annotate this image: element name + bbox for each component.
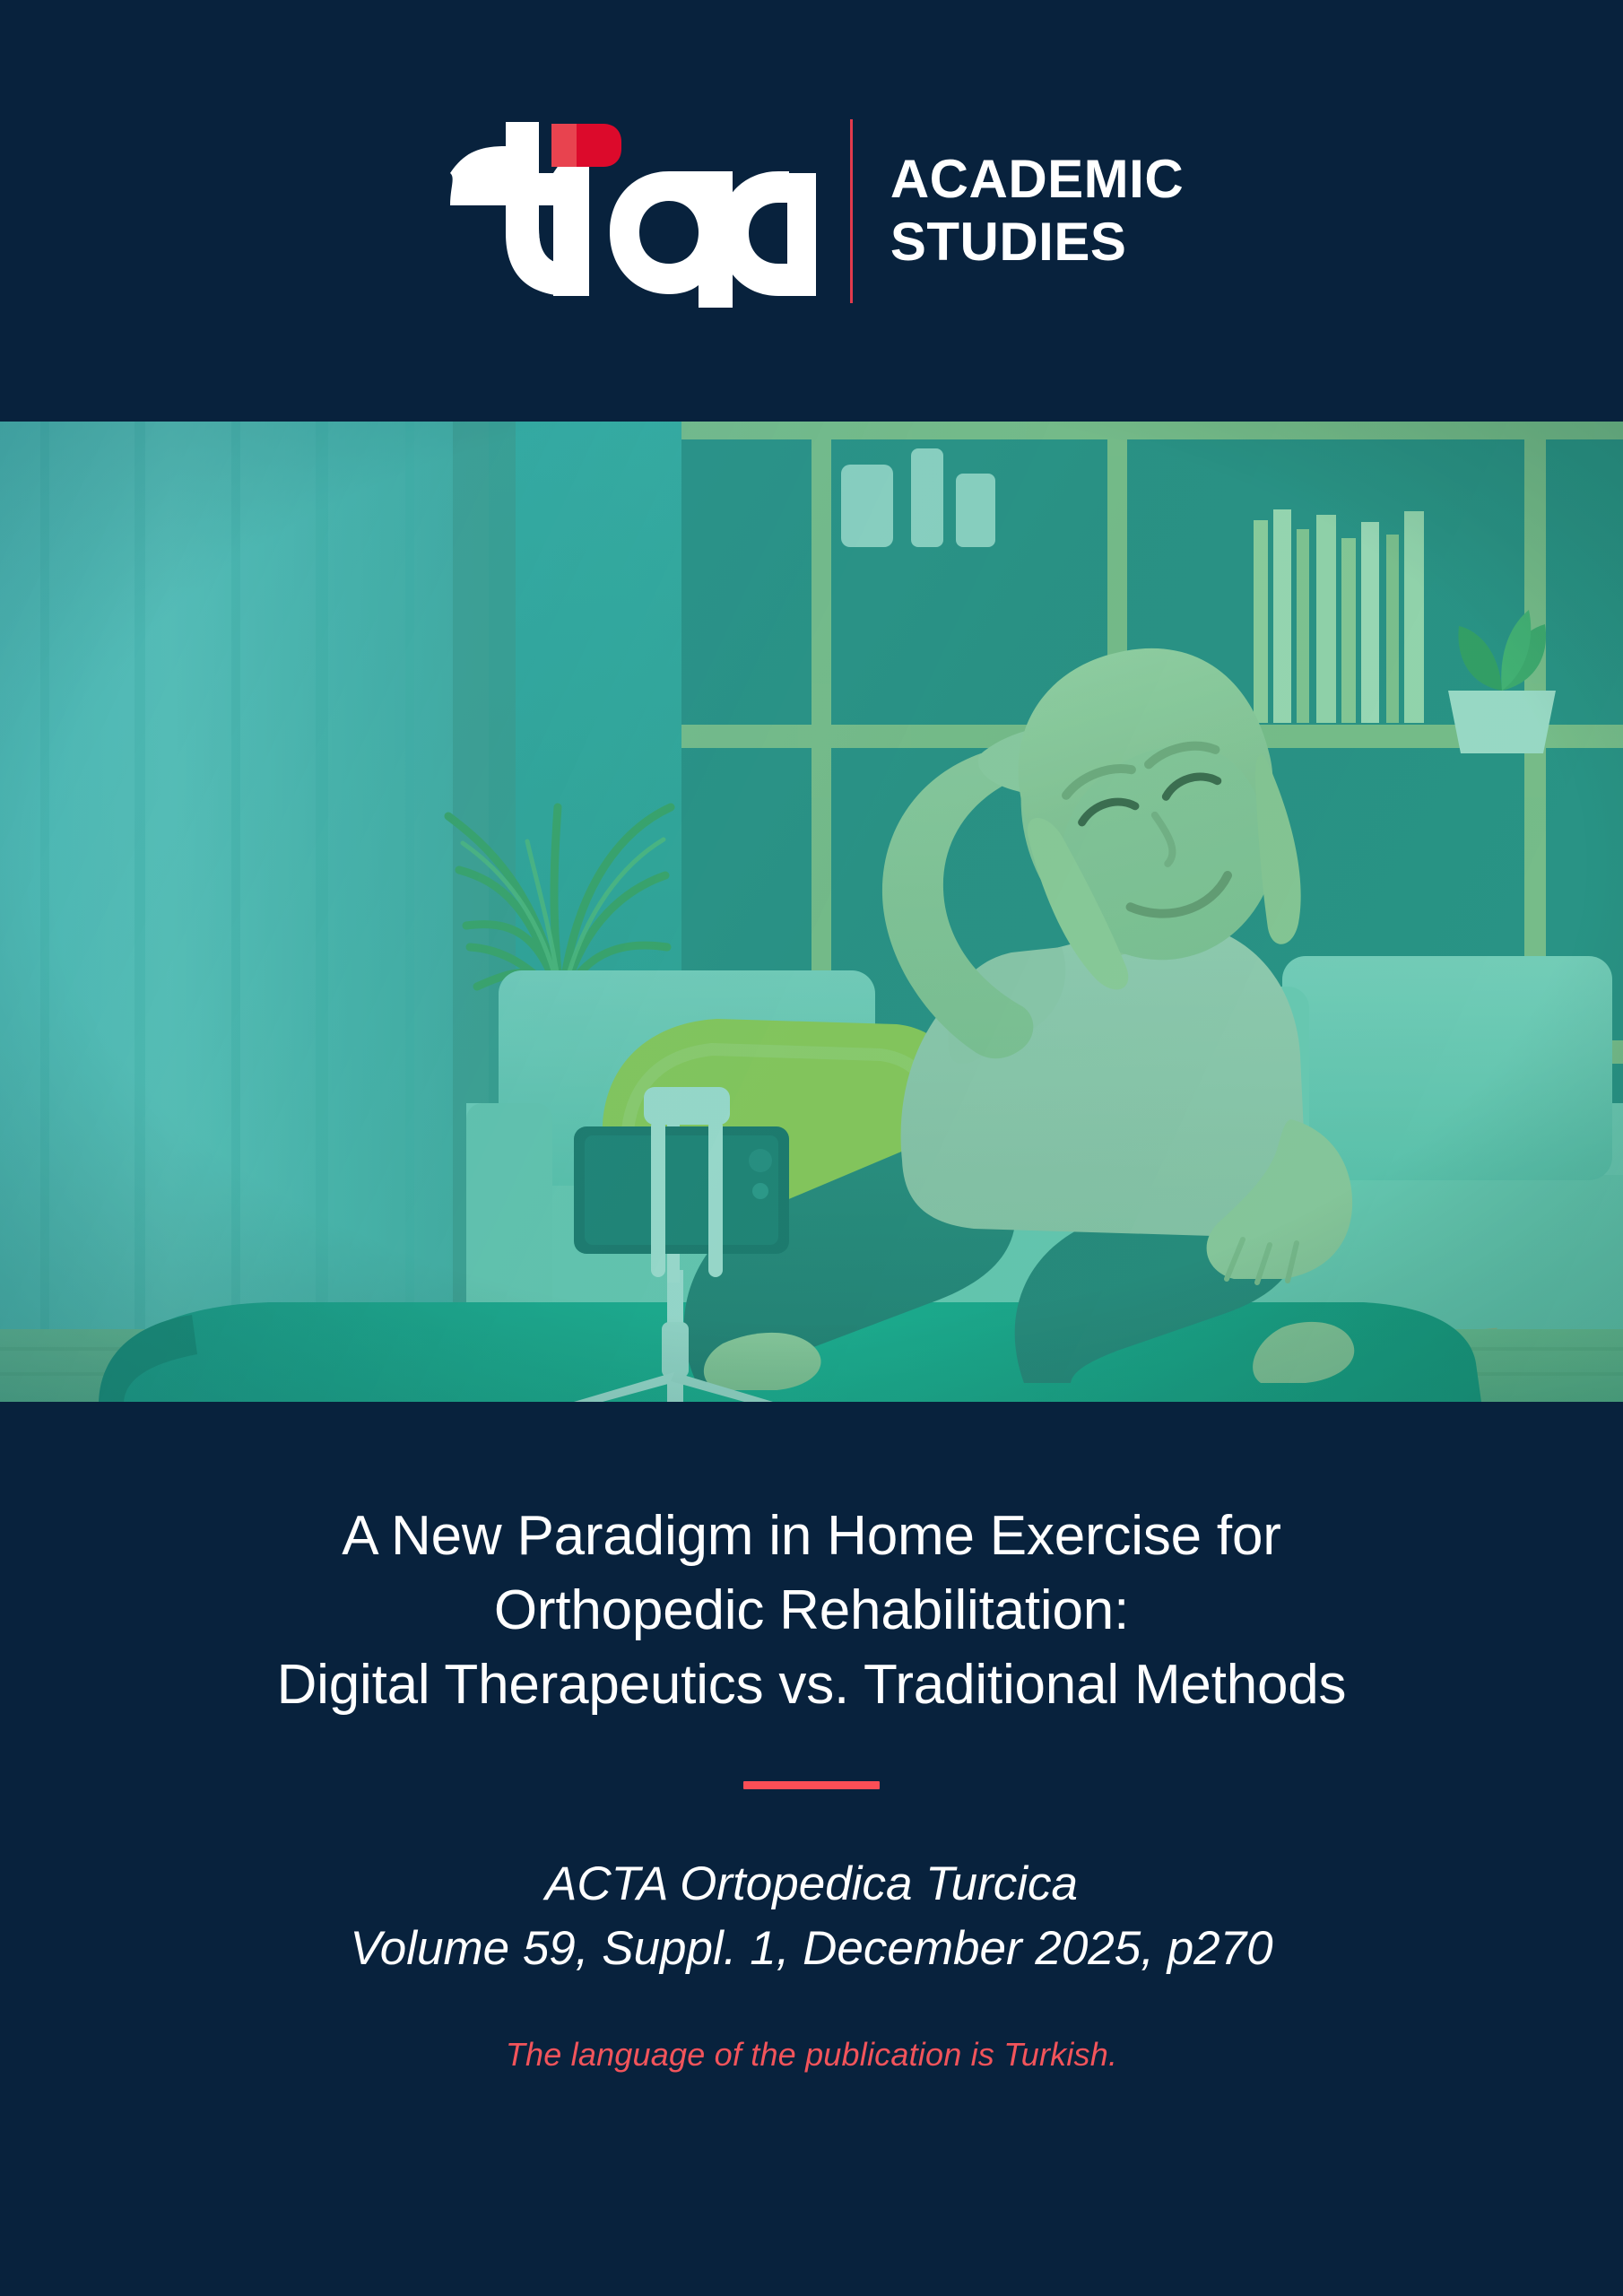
article-title-line-2: Orthopedic Rehabilitation: <box>277 1573 1347 1648</box>
page-header: ACADEMIC STUDIES <box>0 0 1623 422</box>
brand-lockup[interactable]: ACADEMIC STUDIES <box>439 115 1184 308</box>
cover-page: ACADEMIC STUDIES <box>0 0 1623 2296</box>
brand-line-studies: STUDIES <box>890 211 1184 274</box>
article-title-line-3: Digital Therapeutics vs. Traditional Met… <box>277 1648 1347 1722</box>
journal-citation: ACTA Ortopedica Turcica Volume 59, Suppl… <box>350 1852 1272 1980</box>
journal-volume-issue: Volume 59, Suppl. 1, December 2025, p270 <box>350 1917 1272 1981</box>
article-title: A New Paradigm in Home Exercise for Orth… <box>277 1499 1347 1722</box>
title-divider <box>743 1781 880 1789</box>
cover-photo <box>0 422 1623 1402</box>
journal-name: ACTA Ortopedica Turcica <box>350 1852 1272 1917</box>
cover-photo-illustration <box>0 422 1623 1402</box>
article-title-line-1: A New Paradigm in Home Exercise for <box>277 1499 1347 1573</box>
logo-vertical-rule-icon <box>850 119 853 303</box>
brand-line-academic: ACADEMIC <box>890 148 1184 211</box>
language-note: The language of the publication is Turki… <box>506 2036 1117 2074</box>
tiga-logo-icon <box>439 115 816 308</box>
page-footer: A New Paradigm in Home Exercise for Orth… <box>0 1402 1623 2296</box>
brand-name: ACADEMIC STUDIES <box>890 148 1184 273</box>
